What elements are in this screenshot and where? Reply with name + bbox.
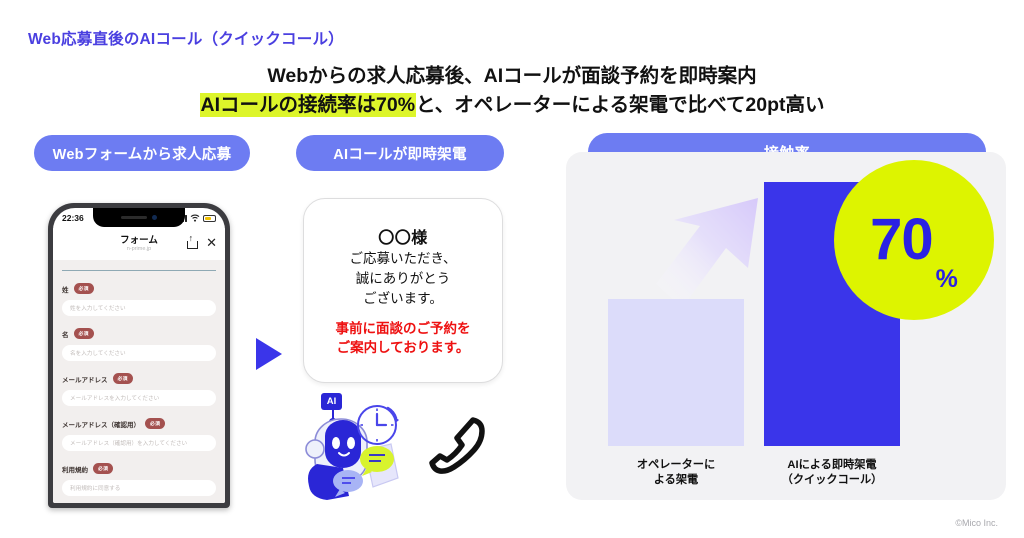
close-icon[interactable]: ✕	[206, 236, 217, 249]
bar-label-operator-line-2: よる架電	[596, 473, 756, 488]
phone-nav-subtitle: n-prime.jp	[120, 247, 158, 253]
bar-label-ai-line-1: AIによる即時架電	[752, 458, 912, 473]
clock-refresh-icon	[355, 400, 403, 448]
phone-form-area: 姓 必須 姓を入力してください 名 必須 名を入力してください メールアドレス	[53, 260, 225, 503]
status-time: 22:36	[62, 213, 84, 223]
callout-unit: %	[936, 267, 958, 292]
required-badge: 必須	[113, 373, 133, 384]
message-recipient-name: 〇〇様	[378, 224, 428, 248]
phone-mockup: 22:36 フォーム n-prime.jp	[48, 203, 230, 508]
battery-icon	[203, 215, 216, 222]
ai-badge: AI	[321, 393, 342, 410]
form-label-text: メールアドレス	[62, 374, 108, 384]
form-field-sei: 姓 必須 姓を入力してください	[53, 283, 225, 316]
form-label-text: メールアドレス（確認用）	[62, 419, 140, 429]
bar-label-ai-line-2: （クイックコール）	[752, 473, 912, 488]
form-field-terms: 利用規約 必須 利用規約に同意する	[53, 463, 225, 496]
headline-block: Webからの求人応募後、AIコールが面談予約を即時案内 AIコールの接続率は70…	[0, 62, 1024, 120]
form-field-mei: 名 必須 名を入力してください	[53, 328, 225, 361]
message-highlight-line-2: ご案内しております。	[337, 339, 470, 357]
form-field-email: メールアドレス 必須 メールアドレスを入力してください	[53, 373, 225, 406]
phone-notch	[93, 208, 185, 227]
slide-root: Web応募直後のAIコール（クイックコール） Webからの求人応募後、AIコール…	[0, 0, 1024, 538]
pill-web-form: Webフォームから求人応募	[34, 135, 250, 171]
form-input-email-confirm[interactable]: メールアドレス（確認用）を入力してください	[62, 435, 216, 451]
message-highlight-line-1: 事前に面談のご予約を	[336, 320, 471, 338]
phone-screen: 22:36 フォーム n-prime.jp	[53, 208, 225, 503]
message-body-line-1: ご応募いただき、	[349, 250, 456, 268]
message-body-line-2: 誠にありがとう	[356, 270, 451, 288]
form-label-row: 利用規約 必須	[62, 463, 216, 474]
phone-nav-actions: ✕	[187, 236, 217, 249]
phone-nav-titles: フォーム n-prime.jp	[120, 236, 158, 253]
headline-highlight: AIコールの接続率は70%	[200, 93, 417, 117]
form-label-row: 姓 必須	[62, 283, 216, 294]
wifi-icon	[190, 214, 200, 222]
ai-message-card: 〇〇様 ご応募いただき、 誠にありがとう ございます。 事前に面談のご予約を ご…	[303, 198, 503, 383]
form-input-terms[interactable]: 利用規約に同意する	[62, 480, 216, 496]
growth-arrow-icon	[652, 196, 768, 316]
headline-line-2-rest: と、オペレーターによる架電で比べて20pt高い	[416, 94, 824, 116]
bar-label-ai: AIによる即時架電 （クイックコール）	[752, 458, 912, 488]
flow-arrow-icon	[256, 338, 282, 370]
copyright-footer: ©Mico Inc.	[955, 518, 998, 528]
notch-camera-icon	[152, 215, 157, 220]
callout-bubble-70: 70 %	[834, 160, 994, 320]
required-badge: 必須	[145, 418, 165, 429]
share-icon[interactable]	[187, 237, 196, 249]
form-field-email-confirm: メールアドレス（確認用） 必須 メールアドレス（確認用）を入力してください	[53, 418, 225, 451]
form-input-sei[interactable]: 姓を入力してください	[62, 300, 216, 316]
callout-value: 70	[870, 211, 933, 269]
form-label-text: 利用規約	[62, 464, 88, 474]
form-input-email[interactable]: メールアドレスを入力してください	[62, 390, 216, 406]
required-badge: 必須	[93, 463, 113, 474]
bar-label-operator: オペレーターに よる架電	[596, 458, 756, 488]
pill-ai-call: AIコールが即時架電	[296, 135, 504, 171]
phone-nav-title: フォーム	[120, 236, 158, 246]
form-label-row: メールアドレス（確認用） 必須	[62, 418, 216, 429]
slide-title: Web応募直後のAIコール（クイックコール）	[28, 27, 344, 49]
phone-nav-bar: フォーム n-prime.jp ✕	[53, 228, 225, 260]
form-label-row: 名 必須	[62, 328, 216, 339]
headline-line-2: AIコールの接続率は70%と、オペレーターによる架電で比べて20pt高い	[0, 91, 1024, 120]
form-input-mei[interactable]: 名を入力してください	[62, 345, 216, 361]
message-body-line-3: ございます。	[363, 290, 443, 308]
form-divider	[62, 270, 216, 271]
chart-plot-area: オペレーターに よる架電 AIによる即時架電 （クイックコール） 70 %	[566, 152, 1006, 500]
phone-handset-icon	[423, 414, 489, 484]
form-label-text: 姓	[62, 284, 69, 294]
form-label-text: 名	[62, 329, 69, 339]
required-badge: 必須	[74, 283, 94, 294]
contact-rate-chart-panel: オペレーターに よる架電 AIによる即時架電 （クイックコール） 70 %	[566, 152, 1006, 500]
bar-label-operator-line-1: オペレーターに	[596, 458, 756, 473]
required-badge: 必須	[74, 328, 94, 339]
notch-speaker-icon	[121, 216, 147, 219]
form-label-row: メールアドレス 必須	[62, 373, 216, 384]
headline-line-1: Webからの求人応募後、AIコールが面談予約を即時案内	[0, 62, 1024, 91]
bar-operator	[608, 299, 744, 446]
